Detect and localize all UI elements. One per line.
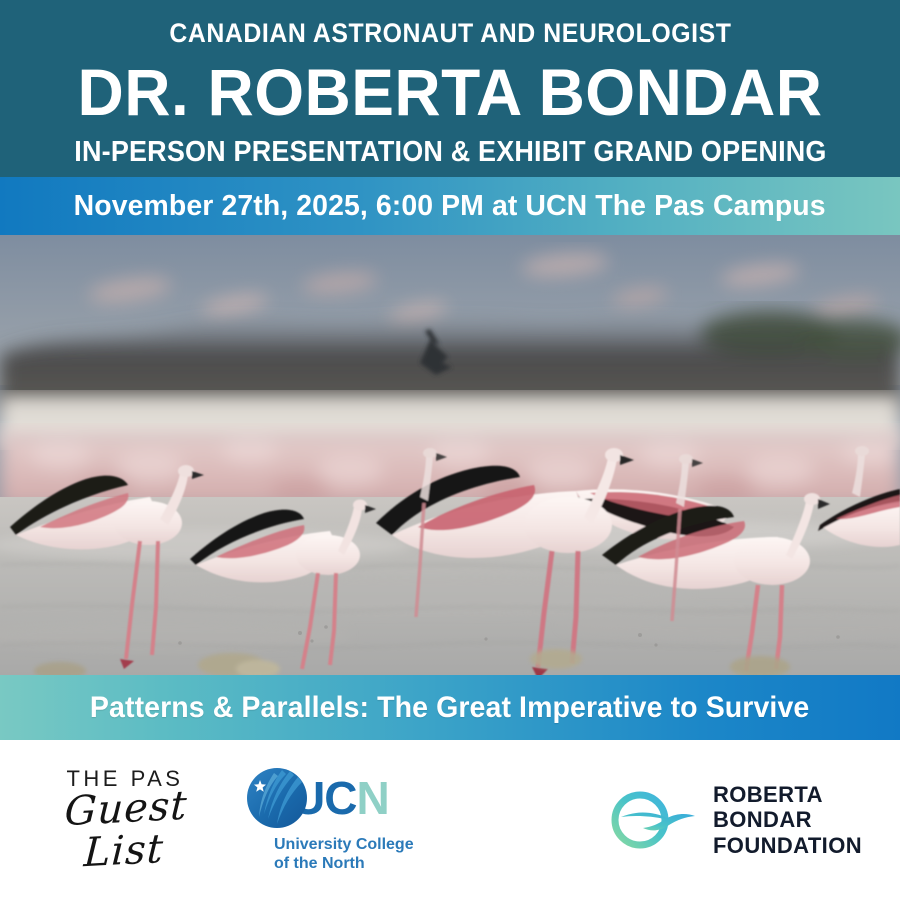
ucn-logo[interactable]: UCN University College of the North (246, 767, 436, 873)
eyebrow-text: CANADIAN ASTRONAUT AND NEUROLOGIST (169, 20, 731, 47)
exhibit-title-text: Patterns & Parallels: The Great Imperati… (90, 691, 809, 725)
bondar-word-line2: BONDAR (713, 807, 862, 833)
bondar-word-line1: ROBERTA (713, 782, 862, 808)
the-pas-guest-list-logo[interactable]: THE PAS Guest List (40, 768, 210, 872)
ucn-subtitle: University College of the North (274, 835, 414, 873)
event-poster: CANADIAN ASTRONAUT AND NEUROLOGIST DR. R… (0, 0, 900, 900)
ucn-subtitle-line1: University College (274, 835, 414, 854)
guest-list-script: Guest List (38, 783, 212, 876)
roberta-bondar-foundation-logo[interactable]: ROBERTA BONDAR FOUNDATION (607, 782, 862, 859)
ucn-subtitle-line2: of the North (274, 854, 414, 873)
exhibit-title-band: Patterns & Parallels: The Great Imperati… (0, 675, 900, 740)
bondar-bird-ring-icon (607, 785, 699, 855)
flamingo-photo (0, 235, 900, 675)
event-date-band: November 27th, 2025, 6:00 PM at UCN The … (0, 177, 900, 235)
event-date-text: November 27th, 2025, 6:00 PM at UCN The … (74, 190, 826, 223)
ucn-circle-icon (246, 767, 308, 829)
bondar-foundation-wordmark: ROBERTA BONDAR FOUNDATION (713, 782, 862, 859)
bondar-word-line3: FOUNDATION (713, 833, 862, 859)
ucn-letter-n: N (356, 772, 388, 824)
flamingo-photo-illustration (0, 235, 900, 675)
sponsor-logo-row: THE PAS Guest List (0, 740, 900, 900)
page-title: DR. ROBERTA BONDAR (78, 59, 823, 126)
ucn-letter-c: C (324, 772, 356, 824)
subtitle-text: IN-PERSON PRESENTATION & EXHIBIT GRAND O… (74, 138, 826, 167)
poster-header: CANADIAN ASTRONAUT AND NEUROLOGIST DR. R… (0, 0, 900, 177)
